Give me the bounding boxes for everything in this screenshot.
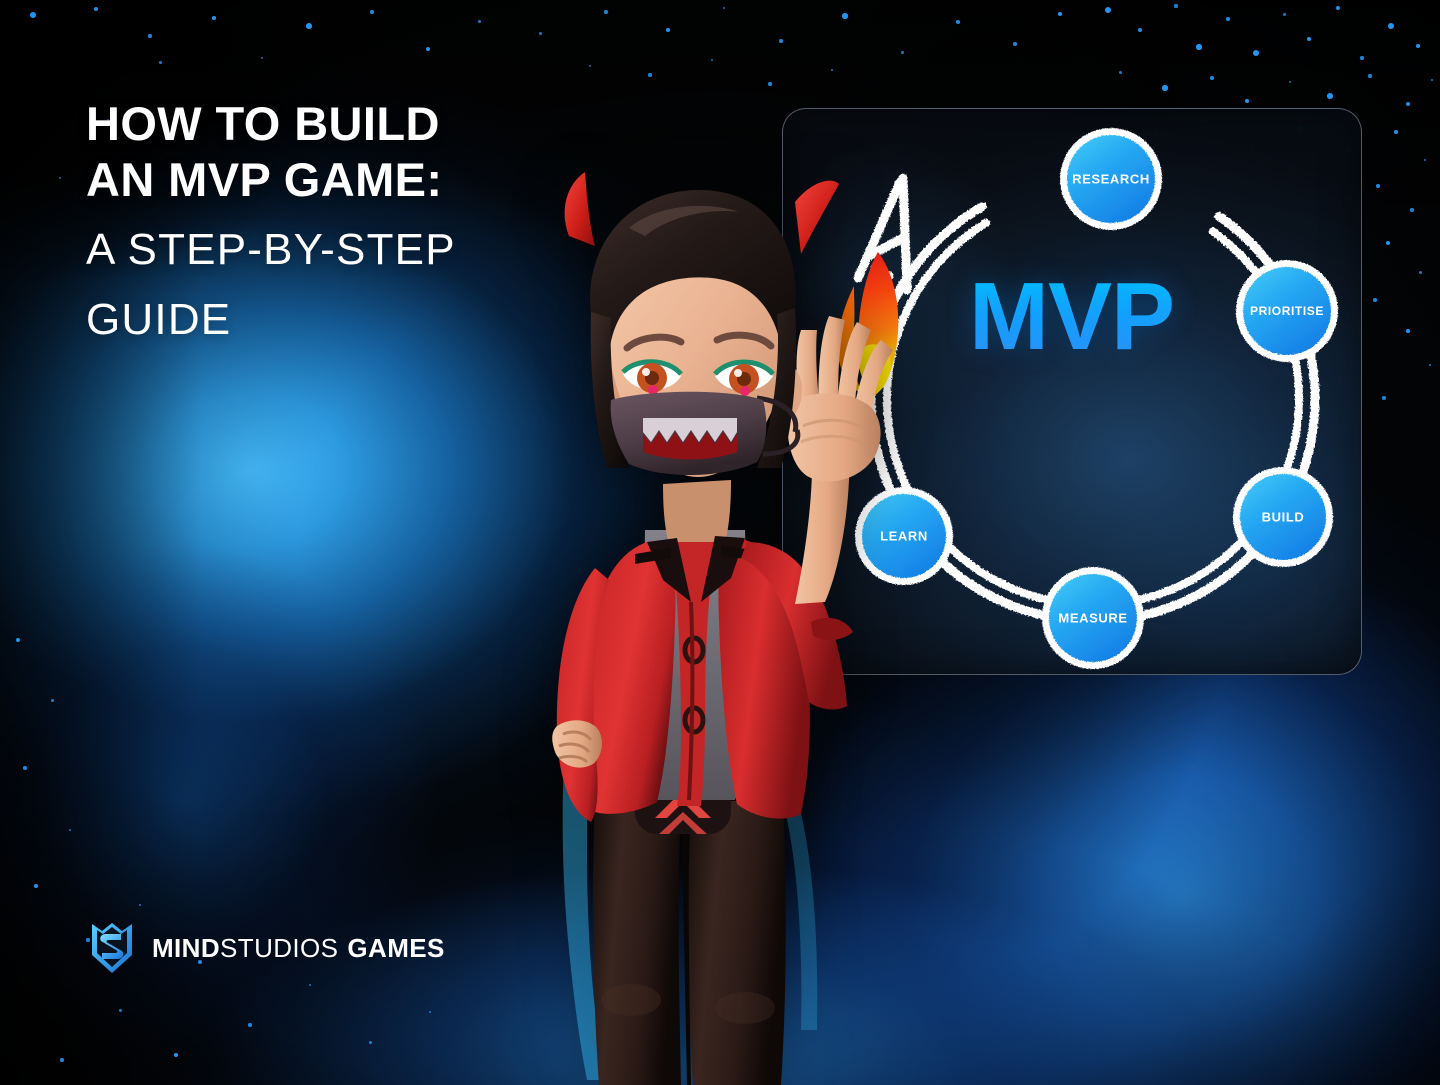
- mask-mouth: [643, 432, 737, 460]
- star-dot: [1410, 208, 1413, 211]
- star-dot: [1013, 42, 1016, 45]
- star-dot: [1368, 74, 1371, 77]
- star-dot: [831, 69, 834, 72]
- star-dot: [30, 12, 37, 19]
- star-dot: [1105, 7, 1111, 13]
- star-dot: [148, 34, 151, 37]
- star-dot: [768, 82, 772, 86]
- headline-line-2: AN MVP GAME:: [86, 152, 556, 208]
- headline-line-1: HOW TO BUILD: [86, 96, 556, 152]
- star-dot: [1226, 17, 1230, 21]
- star-dot: [1289, 81, 1292, 84]
- star-dot: [248, 1023, 251, 1026]
- star-dot: [1419, 271, 1422, 274]
- node-label: RESEARCH: [1072, 172, 1150, 187]
- cycle-node-build[interactable]: BUILD: [1233, 467, 1333, 567]
- star-dot: [1196, 44, 1201, 49]
- star-dot: [1386, 241, 1391, 246]
- cycle-node-prioritise[interactable]: PRIORITISE: [1236, 260, 1338, 362]
- star-dot: [94, 7, 98, 11]
- character-legs: [593, 798, 786, 1085]
- star-dot: [426, 47, 430, 51]
- logo-word-studios: STUDIOS: [220, 933, 338, 963]
- star-dot: [1327, 93, 1333, 99]
- logo-word-mind: MIND: [152, 933, 220, 963]
- star-dot: [648, 73, 651, 76]
- star-dot: [212, 16, 217, 21]
- star-dot: [539, 32, 542, 35]
- headline-block: HOW TO BUILD AN MVP GAME: A STEP-BY-STEP…: [86, 96, 556, 349]
- star-dot: [309, 984, 312, 987]
- star-dot: [1416, 44, 1420, 48]
- star-dot: [34, 884, 39, 889]
- star-dot: [1406, 329, 1410, 333]
- subheadline-line-2: GUIDE: [86, 291, 556, 349]
- horn-left: [565, 172, 595, 246]
- star-dot: [1376, 184, 1380, 188]
- node-label: MEASURE: [1058, 611, 1127, 626]
- star-dot: [1360, 56, 1363, 59]
- star-dot: [1388, 23, 1394, 29]
- star-dot: [306, 23, 312, 29]
- star-dot: [51, 699, 54, 702]
- star-dot: [1424, 159, 1427, 162]
- node-label: PRIORITISE: [1250, 304, 1324, 318]
- mvp-center-label: MVP: [969, 269, 1174, 365]
- star-dot: [1336, 6, 1340, 10]
- star-dot: [1162, 85, 1167, 90]
- star-dot: [1406, 102, 1410, 106]
- mind-studios-shield-icon: [90, 921, 134, 975]
- star-dot: [16, 638, 20, 642]
- star-dot: [1245, 99, 1249, 103]
- star-dot: [478, 20, 481, 23]
- star-dot: [370, 10, 374, 14]
- star-dot: [604, 10, 607, 13]
- cycle-node-measure[interactable]: MEASURE: [1042, 567, 1144, 669]
- star-dot: [723, 7, 726, 10]
- star-dot: [666, 28, 670, 32]
- brand-logo[interactable]: MINDSTUDIOSGAMES: [90, 921, 445, 975]
- star-dot: [589, 65, 592, 68]
- logo-wordmark: MINDSTUDIOSGAMES: [152, 933, 445, 964]
- star-dot: [429, 1011, 432, 1014]
- node-label: BUILD: [1262, 510, 1305, 525]
- star-dot: [1307, 37, 1312, 42]
- star-dot: [901, 51, 904, 54]
- star-dot: [1283, 13, 1286, 16]
- star-dot: [1174, 4, 1177, 7]
- logo-word-games: GAMES: [347, 933, 444, 963]
- star-dot: [1119, 71, 1122, 74]
- star-dot: [1210, 76, 1214, 80]
- horn-right: [795, 181, 839, 254]
- character-head: [565, 172, 839, 477]
- star-dot: [1429, 364, 1432, 367]
- star-dot: [261, 57, 264, 60]
- star-dot: [956, 20, 960, 24]
- devil-girl-3d-character: [495, 150, 915, 1085]
- star-dot: [23, 766, 27, 770]
- star-dot: [1382, 396, 1385, 399]
- star-dot: [1394, 130, 1398, 134]
- star-dot: [59, 177, 61, 179]
- star-dot: [842, 13, 847, 18]
- star-dot: [119, 1009, 122, 1012]
- star-dot: [1058, 12, 1063, 17]
- star-dot: [174, 1053, 178, 1057]
- poster-canvas: RESEARCHPRIORITISEBUILDMEASURELEARN MVP: [0, 0, 1440, 1085]
- star-dot: [60, 1058, 64, 1062]
- subheadline-line-1: A STEP-BY-STEP: [86, 221, 556, 279]
- star-dot: [69, 829, 72, 832]
- star-dot: [1138, 28, 1142, 32]
- star-dot: [369, 1041, 372, 1044]
- star-dot: [779, 39, 783, 43]
- character-illustration: [495, 150, 915, 1085]
- cycle-node-research[interactable]: RESEARCH: [1060, 128, 1162, 230]
- star-dot: [159, 61, 162, 64]
- star-dot: [1373, 298, 1377, 302]
- star-dot: [1253, 50, 1259, 56]
- star-dot: [1431, 79, 1434, 82]
- star-dot: [711, 59, 714, 62]
- star-dot: [139, 904, 142, 907]
